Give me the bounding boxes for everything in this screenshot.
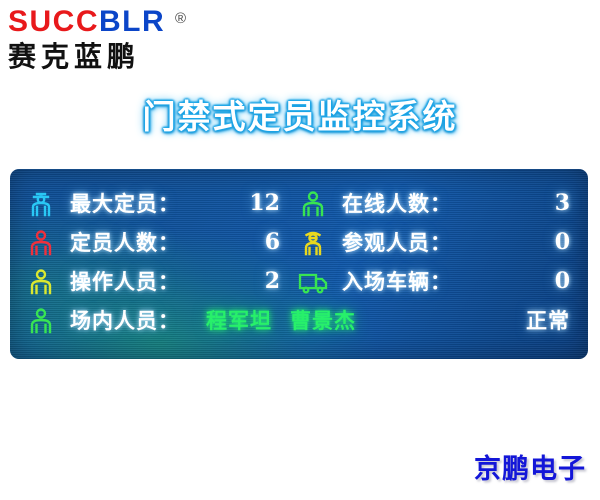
footer-company-name: 京鹏电子: [474, 447, 586, 486]
person-green-icon: [296, 186, 330, 220]
company-logo: SUCCBLR ® 赛克蓝鹏: [8, 6, 238, 76]
led-content-grid: 最大定员： 12 定员人数： 6: [10, 169, 588, 359]
led-row-onsite-personnel: 场内人员： 程军坦 曹景杰 正常: [24, 301, 586, 339]
person-red-icon: [24, 225, 58, 259]
led-value-visitors: 0: [555, 229, 570, 255]
led-label-onsite-personnel: 场内人员：: [70, 305, 180, 335]
logo-wordmark: SUCCBLR ®: [8, 6, 238, 38]
led-label-max-capacity: 最大定员：: [70, 188, 180, 218]
led-value-max-capacity: 12: [249, 190, 280, 216]
led-row-operators: 操作人员： 2: [24, 262, 296, 300]
status-badge: 正常: [526, 305, 570, 335]
led-row-online-count: 在线人数： 3: [296, 184, 586, 222]
logo-chinese-name: 赛克蓝鹏: [8, 40, 238, 74]
onsite-personnel-name-list: 程军坦 曹景杰: [206, 305, 356, 335]
logo-wordmark-part1: SUCC: [8, 5, 99, 38]
led-display-panel: 最大定员： 12 定员人数： 6: [10, 169, 588, 359]
led-row-max-capacity: 最大定员： 12: [24, 184, 296, 222]
list-item: 曹景杰: [290, 305, 356, 335]
led-label-vehicles: 入场车辆：: [342, 266, 452, 296]
led-row-quota-count: 定员人数： 6: [24, 223, 296, 261]
person-helmet-icon: [24, 186, 58, 220]
person-green-icon: [24, 303, 58, 337]
led-value-quota-count: 6: [265, 229, 280, 255]
led-value-vehicles: 0: [555, 268, 570, 294]
led-value-operators: 2: [265, 268, 280, 294]
list-item: 程军坦: [206, 305, 272, 335]
logo-wordmark-part2: BLR: [99, 5, 165, 38]
person-yellow-icon: [24, 264, 58, 298]
led-value-online-count: 3: [555, 190, 570, 216]
led-row-visitors: 参观人员： 0: [296, 223, 586, 261]
page-title: 门禁式定员监控系统: [0, 90, 600, 138]
led-label-visitors: 参观人员：: [342, 227, 452, 257]
truck-icon: [296, 264, 330, 298]
led-row-vehicles: 入场车辆： 0: [296, 262, 586, 300]
led-label-operators: 操作人员：: [70, 266, 180, 296]
registered-trademark-icon: ®: [175, 11, 188, 26]
led-label-quota-count: 定员人数：: [70, 227, 180, 257]
led-label-online-count: 在线人数：: [342, 188, 452, 218]
person-visitor-icon: [296, 225, 330, 259]
